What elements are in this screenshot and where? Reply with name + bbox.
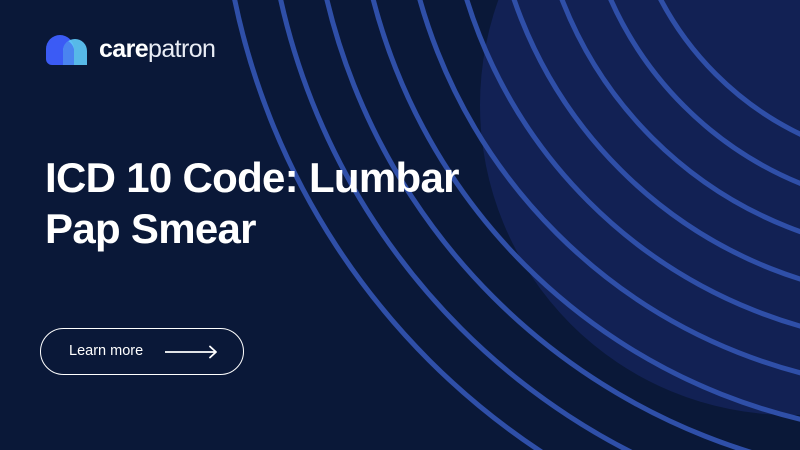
learn-more-button[interactable]: Learn more (40, 328, 244, 375)
brand-wordmark-secondary: patron (148, 35, 215, 63)
learn-more-button-label: Learn more (69, 344, 143, 359)
page-title: ICD 10 Code: Lumbar Pap Smear (45, 152, 475, 254)
background-arc (445, 0, 800, 345)
background-arc (490, 0, 800, 300)
brand-logo[interactable]: carepatron (44, 28, 215, 68)
background-arc (535, 0, 800, 255)
background-arc (580, 0, 800, 210)
banner-canvas: carepatron ICD 10 Code: Lumbar Pap Smear… (0, 0, 800, 450)
brand-wordmark: carepatron (99, 37, 215, 62)
background-arc (625, 0, 800, 165)
brand-wordmark-primary: care (99, 35, 148, 63)
arrow-right-icon (165, 345, 221, 359)
carepatron-logo-mark-icon (44, 29, 90, 67)
background-circle (480, 0, 800, 415)
